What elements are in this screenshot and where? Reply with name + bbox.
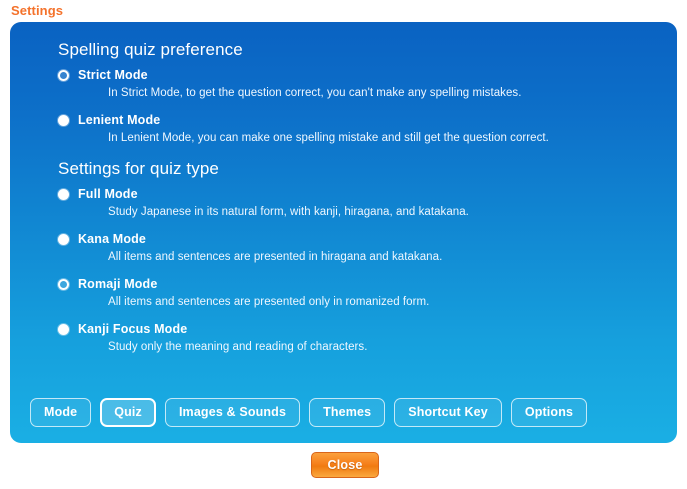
option-kanji-focus-mode[interactable]: Kanji Focus Mode Study only the meaning … — [58, 321, 659, 355]
option-full-mode-head[interactable]: Full Mode — [58, 186, 659, 202]
option-kana-mode-head[interactable]: Kana Mode — [58, 231, 659, 247]
option-strict-mode-head[interactable]: Strict Mode — [58, 67, 659, 83]
settings-tab-bar: Mode Quiz Images & Sounds Themes Shortcu… — [30, 398, 587, 427]
option-full-mode[interactable]: Full Mode Study Japanese in its natural … — [58, 186, 659, 220]
tab-mode[interactable]: Mode — [30, 398, 91, 427]
option-lenient-mode[interactable]: Lenient Mode In Lenient Mode, you can ma… — [58, 112, 659, 146]
radio-kana-mode-icon[interactable] — [58, 234, 69, 245]
option-romaji-mode-head[interactable]: Romaji Mode — [58, 276, 659, 292]
tab-shortcut-key[interactable]: Shortcut Key — [394, 398, 502, 427]
option-full-mode-description: Study Japanese in its natural form, with… — [108, 204, 578, 220]
option-kana-mode-description: All items and sentences are presented in… — [108, 249, 578, 265]
option-lenient-mode-label: Lenient Mode — [78, 112, 160, 128]
option-strict-mode[interactable]: Strict Mode In Strict Mode, to get the q… — [58, 67, 659, 101]
option-lenient-mode-head[interactable]: Lenient Mode — [58, 112, 659, 128]
radio-romaji-mode-icon[interactable] — [58, 279, 69, 290]
option-strict-mode-description: In Strict Mode, to get the question corr… — [108, 85, 578, 101]
section-heading-spelling: Spelling quiz preference — [58, 38, 659, 62]
radio-full-mode-icon[interactable] — [58, 189, 69, 200]
option-kanji-focus-mode-label: Kanji Focus Mode — [78, 321, 187, 337]
option-full-mode-label: Full Mode — [78, 186, 138, 202]
option-romaji-mode-description: All items and sentences are presented on… — [108, 294, 578, 310]
option-romaji-mode[interactable]: Romaji Mode All items and sentences are … — [58, 276, 659, 310]
option-kana-mode-label: Kana Mode — [78, 231, 146, 247]
option-strict-mode-label: Strict Mode — [78, 67, 148, 83]
option-lenient-mode-description: In Lenient Mode, you can make one spelli… — [108, 130, 578, 146]
tab-quiz[interactable]: Quiz — [100, 398, 156, 427]
close-button[interactable]: Close — [311, 452, 379, 478]
tab-options[interactable]: Options — [511, 398, 587, 427]
option-kanji-focus-mode-description: Study only the meaning and reading of ch… — [108, 339, 578, 355]
settings-panel: Spelling quiz preference Strict Mode In … — [10, 22, 677, 443]
option-kanji-focus-mode-head[interactable]: Kanji Focus Mode — [58, 321, 659, 337]
settings-content: Spelling quiz preference Strict Mode In … — [58, 38, 659, 355]
option-romaji-mode-label: Romaji Mode — [78, 276, 157, 292]
radio-kanji-focus-mode-icon[interactable] — [58, 324, 69, 335]
radio-strict-mode-icon[interactable] — [58, 70, 69, 81]
radio-lenient-mode-icon[interactable] — [58, 115, 69, 126]
section-heading-quiz-type: Settings for quiz type — [58, 157, 659, 181]
page-title: Settings — [11, 2, 63, 20]
tab-images-and-sounds[interactable]: Images & Sounds — [165, 398, 300, 427]
option-kana-mode[interactable]: Kana Mode All items and sentences are pr… — [58, 231, 659, 265]
tab-themes[interactable]: Themes — [309, 398, 385, 427]
